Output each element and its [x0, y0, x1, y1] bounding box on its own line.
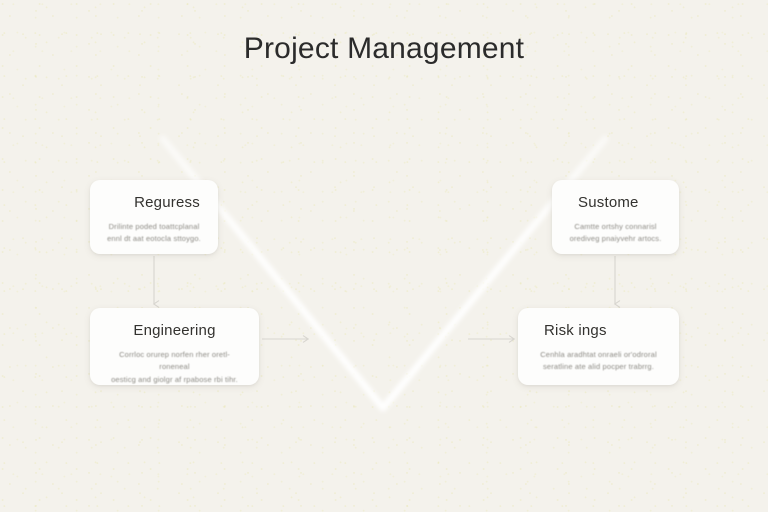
- card-engineering-title: Engineering: [104, 322, 245, 339]
- card-risk-body-line-1: Cenhla aradhtat onraeli or'odroral: [532, 349, 665, 361]
- card-engineering-body-line-2: oesticg and giolgr af rpabose rbi tihr.: [104, 374, 245, 385]
- page-title: Project Management: [0, 32, 768, 66]
- card-customer-title: Sustome: [566, 194, 665, 211]
- paper-noise-texture: [0, 0, 768, 512]
- card-engineering[interactable]: Engineering Corrloc orurep norfen rher o…: [90, 308, 259, 385]
- card-risk[interactable]: Risk ings Cenhla aradhtat onraeli or'odr…: [518, 308, 679, 385]
- card-requirements-title: Reguress: [104, 194, 204, 211]
- card-requirements-body-line-1: Drilinte poded toattcplanal: [104, 221, 204, 233]
- card-requirements-body-line-2: ennl dt aat eotocla sttoygo.: [104, 233, 204, 245]
- v-shape-overlay-decoration: [0, 0, 768, 512]
- card-customer-body-line-2: orediveg pnaiyvehr artocs.: [566, 233, 665, 245]
- card-requirements[interactable]: Reguress Drilinte poded toattcplanal enn…: [90, 180, 218, 254]
- connector-layer: [0, 0, 768, 512]
- diagram-canvas: Project Management Reguress Drilinte pod…: [0, 0, 768, 512]
- card-customer-body-line-1: Camtte ortshy connarisl: [566, 221, 665, 233]
- card-customer[interactable]: Sustome Camtte ortshy connarisl orediveg…: [552, 180, 679, 254]
- card-risk-title: Risk ings: [532, 322, 665, 339]
- card-engineering-body-line-1: Corrloc orurep norfen rher oretl-ronenea…: [104, 349, 245, 374]
- card-risk-body-line-2: seratline ate alid pocper trabrrg.: [532, 361, 665, 373]
